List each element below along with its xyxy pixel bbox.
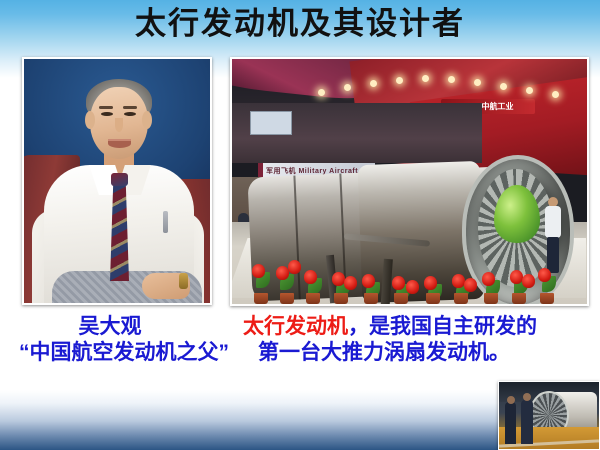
- eye-right: [124, 112, 136, 116]
- worker-two-body: [521, 400, 533, 444]
- caption-engine-name-highlight: 太行发动机: [243, 315, 348, 338]
- wristwatch: [179, 273, 188, 289]
- portrait-photo: [22, 57, 212, 305]
- thumbnail-artwork: [499, 382, 599, 449]
- nose: [115, 118, 123, 132]
- engine-photo: AVIC 中航工业 军用飞机 Military Aircraft: [230, 57, 589, 306]
- booth-display-panel: [250, 111, 292, 135]
- pocket-pen: [163, 211, 168, 233]
- avic-chinese-text: 中航工业: [481, 101, 513, 112]
- page-title: 太行发动机及其设计者: [0, 4, 600, 44]
- eye-left: [101, 112, 113, 116]
- caption-engine-line2: 第一台大推力涡扇发动机。: [258, 342, 510, 363]
- worker-two-head: [523, 393, 531, 401]
- ear-left: [85, 111, 95, 129]
- tie-knot: [111, 173, 128, 186]
- caption-designer-name: 吴大观: [0, 316, 220, 337]
- hangar-thumbnail-photo: [498, 381, 600, 450]
- caption-engine-line1-rest: ，是我国自主研发的: [348, 315, 537, 338]
- eyebrow-left: [99, 106, 113, 109]
- eyebrow-right: [123, 106, 137, 109]
- flower-border: [250, 246, 580, 304]
- worker-one-body: [505, 402, 516, 444]
- portrait-artwork: [24, 59, 210, 303]
- mouth: [108, 139, 131, 148]
- caption-designer-title: “中国航空发动机之父”: [0, 342, 248, 363]
- presentation-slide: 太行发动机及其设计者: [0, 0, 600, 450]
- engine-artwork: AVIC 中航工业 军用飞机 Military Aircraft: [232, 59, 587, 304]
- visitor-torso: [545, 206, 561, 238]
- ear-right: [142, 111, 152, 129]
- ceiling-spotlights: [318, 75, 578, 101]
- caption-engine-line1: 太行发动机，是我国自主研发的: [243, 316, 537, 337]
- worker-one-head: [507, 396, 515, 404]
